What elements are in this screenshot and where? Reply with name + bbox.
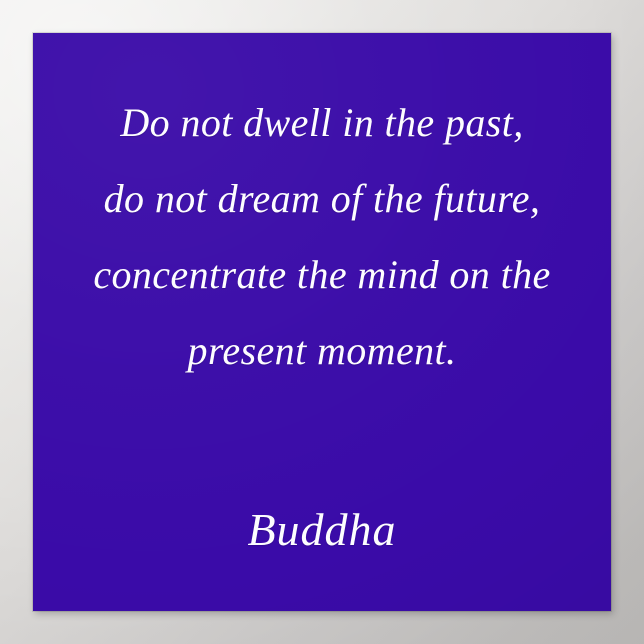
quote-attribution: Buddha xyxy=(33,498,611,562)
quote-line-3: concentrate the mind on the xyxy=(55,237,589,313)
poster-canvas: Do not dwell in the past, do not dream o… xyxy=(0,0,644,644)
quote-line-2: do not dream of the future, xyxy=(55,161,589,237)
quote-block: Do not dwell in the past, do not dream o… xyxy=(33,85,611,389)
quote-line-4: present moment. xyxy=(55,313,589,389)
quote-line-1: Do not dwell in the past, xyxy=(55,85,589,161)
poster-panel: Do not dwell in the past, do not dream o… xyxy=(33,33,611,611)
